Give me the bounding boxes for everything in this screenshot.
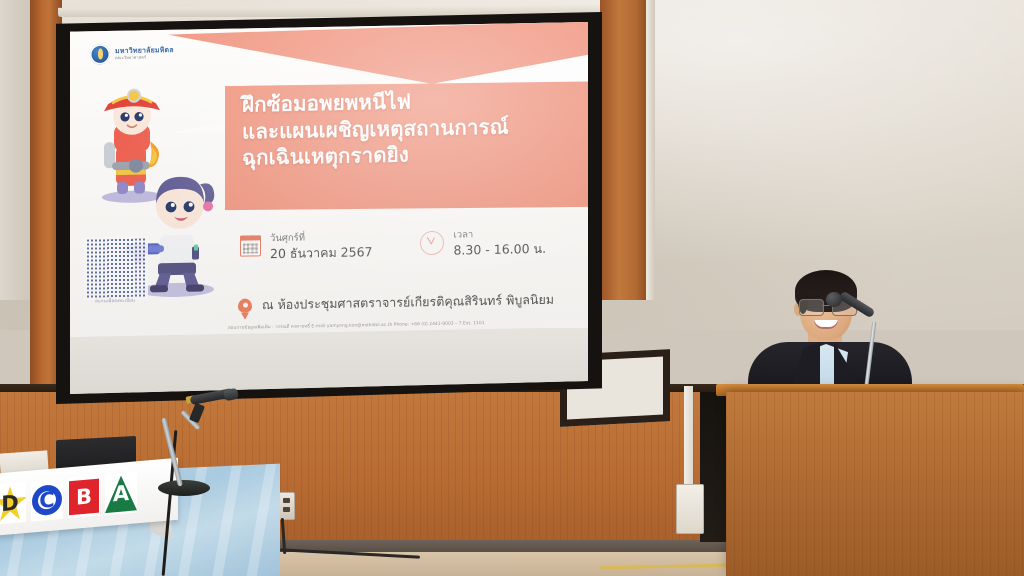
response-card-letter: C [39, 487, 54, 512]
response-card-a: A [105, 472, 137, 515]
map-pin-icon [238, 298, 252, 312]
response-card-d: D [0, 482, 26, 525]
conference-room-photo: มหาวิทยาลัยมหิดล คณะวิทยาศาสตร์ ฝึกซ้อมอ… [0, 0, 1024, 576]
microphone-base [158, 480, 210, 496]
calendar-icon [240, 235, 261, 256]
clock-icon [420, 231, 444, 255]
response-card-letter: B [76, 484, 92, 509]
presentation-slide: มหาวิทยาลัยมหิดล คณะวิทยาศาสตร์ ฝึกซ้อมอ… [70, 22, 588, 337]
power-outlet [278, 492, 295, 520]
mahidol-emblem-icon [90, 44, 110, 64]
slide-time-block: เวลา 8.30 - 16.00 น. [420, 228, 546, 259]
response-card-letter: A [113, 481, 129, 506]
registration-qr-code [84, 235, 148, 300]
slide-logo: มหาวิทยาลัยมหิดล คณะวิทยาศาสตร์ [90, 43, 174, 65]
logo-line2: คณะวิทยาศาสตร์ [115, 55, 174, 60]
response-card-letter: D [1, 491, 18, 517]
date-value: 20 ธันวาคม 2567 [270, 244, 372, 262]
lens-left [799, 299, 824, 316]
projection-screen-surface: มหาวิทยาลัยมหิดล คณะวิทยาศาสตร์ ฝึกซ้อมอ… [70, 22, 588, 394]
slide-location-block: ณ ห้องประชุมศาสตราจารย์เกียรติคุณสิรินทร… [238, 290, 554, 316]
podium: อตฺตานํ อุปมํ กเรมหาวิทยาลัยมหิดล [726, 392, 1024, 576]
slide-date-block: วันศุกร์ที่ 20 ธันวาคม 2567 [240, 231, 372, 263]
right-column-trim [646, 0, 655, 300]
time-value: 8.30 - 16.00 น. [453, 240, 546, 258]
response-card-b: B [68, 476, 100, 519]
slide-meta-row: วันศุกร์ที่ 20 ธันวาคม 2567 เวลา 8.30 - … [240, 228, 546, 263]
presenter [742, 268, 918, 398]
right-wood-column [600, 0, 648, 300]
response-card-c: C [31, 479, 63, 522]
slide-title: ฝึกซ้อมอพยพหนีไฟ และแผนเผชิญเหตุสถานการณ… [242, 85, 588, 172]
location-value: ณ ห้องประชุมศาสตราจารย์เกียรติคุณสิรินทร… [262, 290, 554, 316]
wall-conduit [684, 386, 693, 486]
wall-junction-box [676, 484, 704, 534]
podium-microphone-capsule [826, 292, 842, 307]
qr-caption: สแกนเพื่อลงทะเบียน [82, 297, 148, 305]
